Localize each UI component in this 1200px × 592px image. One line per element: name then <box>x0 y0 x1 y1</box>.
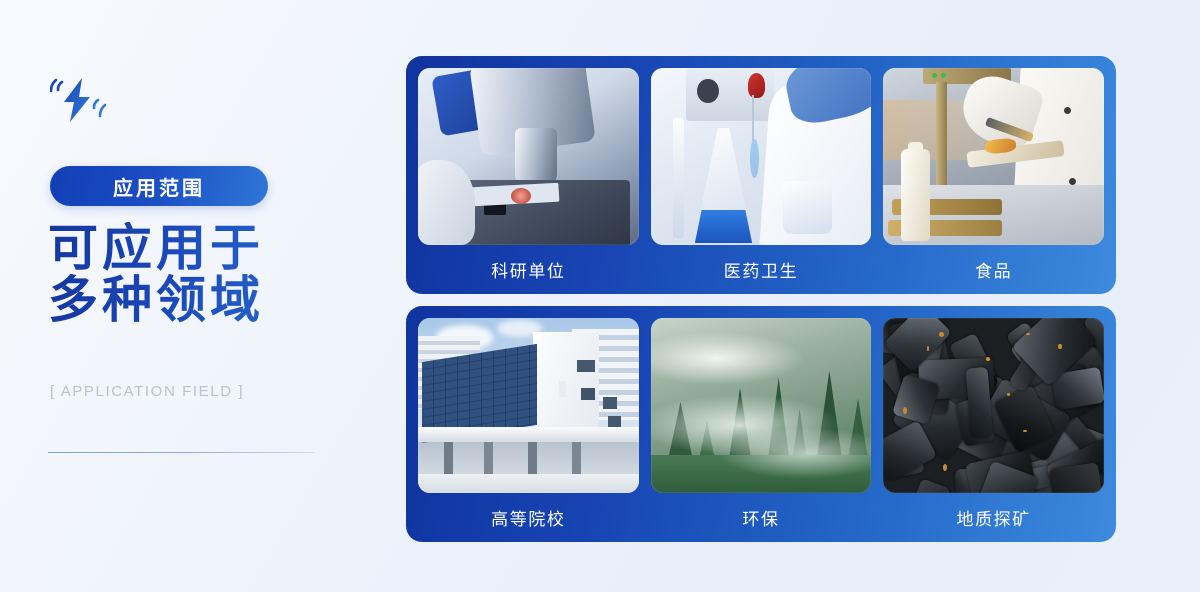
section-badge: 应用范围 <box>50 166 268 206</box>
headline-line-2: 多种领域 <box>48 274 378 326</box>
card-gaodeng-yuanxiao[interactable]: 高等院校 <box>418 318 639 530</box>
microscope-lab-photo <box>418 68 639 245</box>
card-label: 高等院校 <box>491 505 565 530</box>
lightning-signal-icon <box>50 76 106 124</box>
card-label: 食品 <box>975 257 1012 282</box>
coal-rocks-photo <box>883 318 1104 493</box>
card-label: 医药卫生 <box>724 257 798 282</box>
left-intro-panel: 应用范围 可应用于 多种领域 [ APPLICATION FIELD ] <box>0 0 400 592</box>
card-row-1: 科研单位 医药卫生 <box>406 56 1116 294</box>
card-row-2: 高等院校 环保 地质探矿 <box>406 306 1116 542</box>
university-building-photo <box>418 318 639 493</box>
food-service-buffet-photo <box>883 68 1104 245</box>
card-dizhi-tankuang[interactable]: 地质探矿 <box>883 318 1104 530</box>
card-label: 地质探矿 <box>956 505 1030 530</box>
card-yiyao-weisheng[interactable]: 医药卫生 <box>651 68 872 282</box>
page-subtitle: [ APPLICATION FIELD ] <box>50 383 244 400</box>
section-badge-label: 应用范围 <box>113 172 205 201</box>
page-title: 可应用于 多种领域 <box>48 222 378 326</box>
card-label: 环保 <box>742 505 779 530</box>
headline-line-1: 可应用于 <box>48 222 378 274</box>
pipette-flask-lab-photo <box>651 68 872 245</box>
card-huanbao[interactable]: 环保 <box>651 318 872 530</box>
card-shipin[interactable]: 食品 <box>883 68 1104 282</box>
section-divider <box>48 452 314 453</box>
application-field-grid: 科研单位 医药卫生 <box>406 56 1116 542</box>
card-label: 科研单位 <box>491 257 565 282</box>
misty-forest-photo <box>651 318 872 493</box>
card-keyan-danwei[interactable]: 科研单位 <box>418 68 639 282</box>
